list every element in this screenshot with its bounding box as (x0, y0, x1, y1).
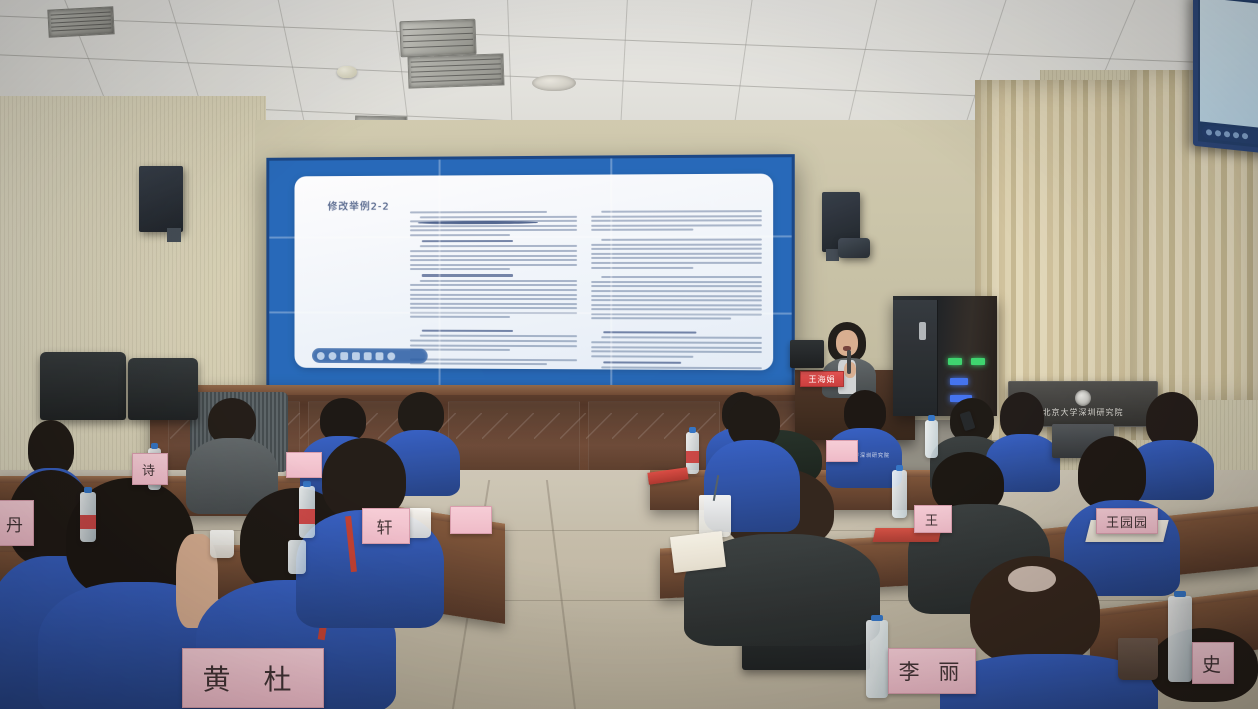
water-bottle[interactable] (288, 540, 306, 574)
nameplate-attendee-6: 王园园 (1096, 508, 1158, 534)
timer-icon[interactable] (329, 352, 337, 360)
air-vent-icon (407, 53, 504, 88)
notebook-page[interactable] (670, 531, 726, 573)
document-column-left (410, 211, 577, 351)
nameplate-attendee-5: 王 (914, 505, 952, 533)
nameplate-attendee-10 (450, 506, 492, 534)
microphone-icon (847, 350, 851, 374)
nameplate-attendee-1: 丹 (0, 500, 34, 546)
nameplate-attendee-4: 轩 (362, 508, 410, 544)
air-vent-icon (47, 6, 114, 37)
document-column-right (591, 210, 762, 352)
rack-door-handle[interactable] (919, 322, 926, 340)
office-chair-back-left[interactable] (40, 352, 126, 420)
water-bottle[interactable] (866, 620, 888, 698)
attendee-front-right-4 (950, 556, 1150, 709)
water-bottle[interactable] (299, 486, 315, 538)
nameplate-attendee-8: 史 (1192, 642, 1234, 684)
organization-logo-icon (1075, 390, 1091, 406)
nameplate-presenter: 王海娟 (800, 371, 844, 387)
rack-led-green-left (948, 358, 962, 365)
air-vent-icon (399, 19, 476, 58)
close-icon[interactable] (387, 352, 395, 360)
paper-cup[interactable] (1118, 638, 1158, 680)
rack-led-green-right (971, 358, 985, 365)
water-bottle[interactable] (1168, 596, 1192, 682)
presentation-document: 修改举例2-2 (294, 174, 773, 371)
wall-speaker-right-2 (838, 238, 870, 258)
water-bottle[interactable] (80, 492, 96, 542)
smoke-detector-icon (337, 66, 357, 78)
rack-led-blue-1 (950, 378, 968, 385)
nameplate-attendee-3: 黄 杜 (182, 648, 324, 708)
corner-monitor[interactable] (1193, 0, 1258, 154)
attendee-hair (1000, 392, 1044, 440)
nameplate-attendee-7: 李 丽 (888, 648, 976, 694)
water-bottle[interactable] (925, 420, 938, 458)
water-bottle[interactable] (892, 470, 907, 518)
led-video-wall[interactable]: 修改举例2-2 (266, 154, 794, 396)
corner-monitor-toolbar[interactable] (1202, 125, 1258, 146)
hair-scrunchie (1008, 566, 1056, 592)
nameplate-attendee-2: 诗 (132, 453, 168, 485)
nameplate-attendee-9 (286, 452, 322, 478)
eraser-icon[interactable] (352, 352, 360, 360)
nameplate-attendee-11 (826, 440, 858, 462)
pen-icon[interactable] (340, 352, 348, 360)
paper-cup[interactable] (210, 530, 234, 558)
conference-room-photo: 修改举例2-2 (0, 0, 1258, 709)
record-icon[interactable] (317, 352, 325, 360)
keyboard-icon[interactable] (364, 352, 372, 360)
presentation-title: 修改举例2-2 (328, 198, 390, 213)
ceiling-speaker-icon (532, 75, 576, 91)
water-bottle[interactable] (686, 432, 699, 474)
screen-icon[interactable] (376, 352, 384, 360)
presenter-monitor[interactable] (790, 340, 824, 368)
attendee-hair (1078, 436, 1146, 510)
wall-speaker-left (139, 166, 183, 232)
annotation-toolbar[interactable] (312, 348, 428, 363)
